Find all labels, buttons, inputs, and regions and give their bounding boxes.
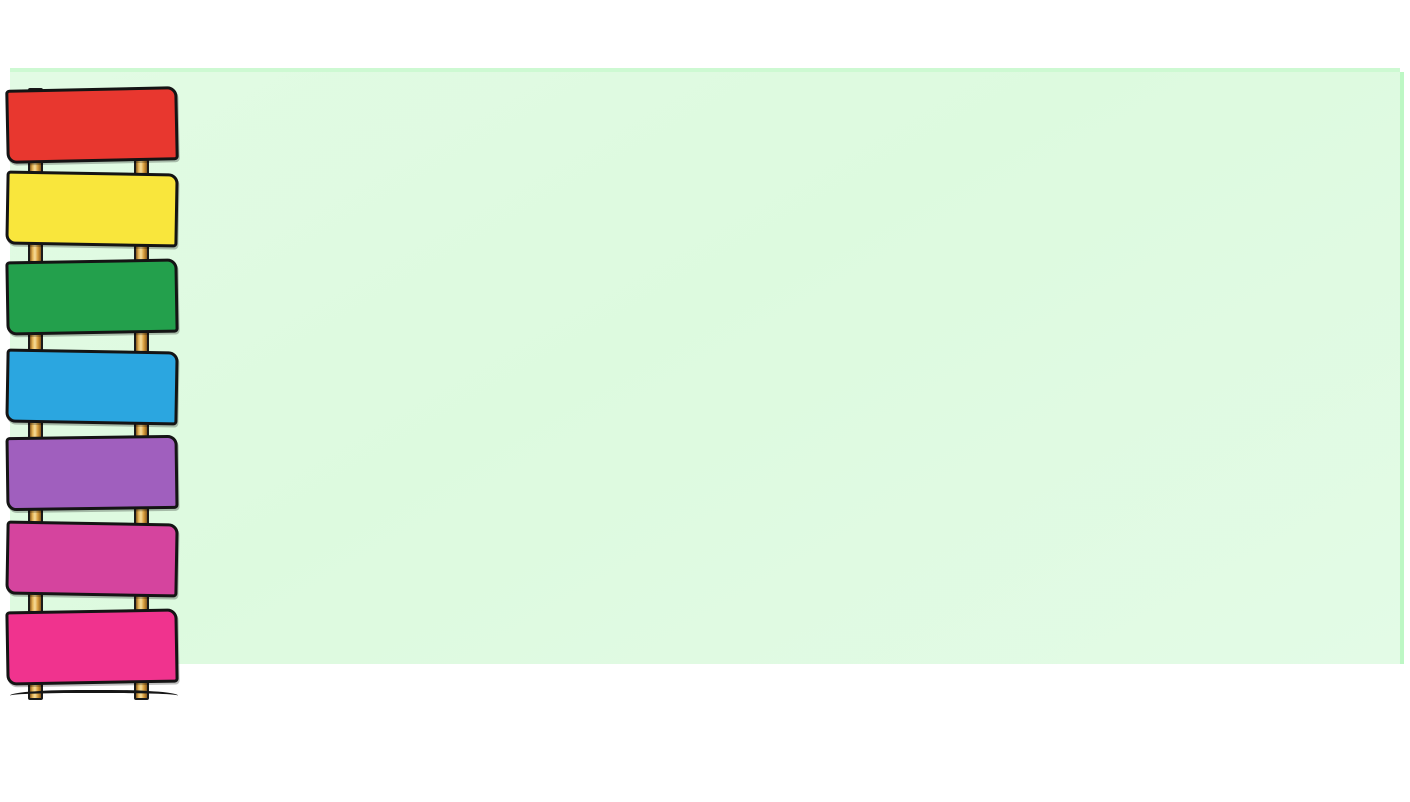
sign-thursday	[5, 349, 178, 426]
sign-tuesday	[5, 171, 178, 248]
sign-wednesday	[5, 259, 178, 336]
sign-monday	[5, 86, 179, 164]
bottom-border-decoration	[0, 652, 1410, 802]
content-panel	[10, 72, 1400, 664]
sign-saturday	[5, 521, 178, 598]
signpost-ground-line	[10, 690, 178, 704]
sign-sunday	[5, 609, 178, 686]
slide-canvas	[0, 0, 1410, 802]
sign-friday	[5, 435, 178, 511]
top-border-decoration	[0, 0, 1410, 78]
days-of-week-signpost-icon	[4, 82, 184, 710]
